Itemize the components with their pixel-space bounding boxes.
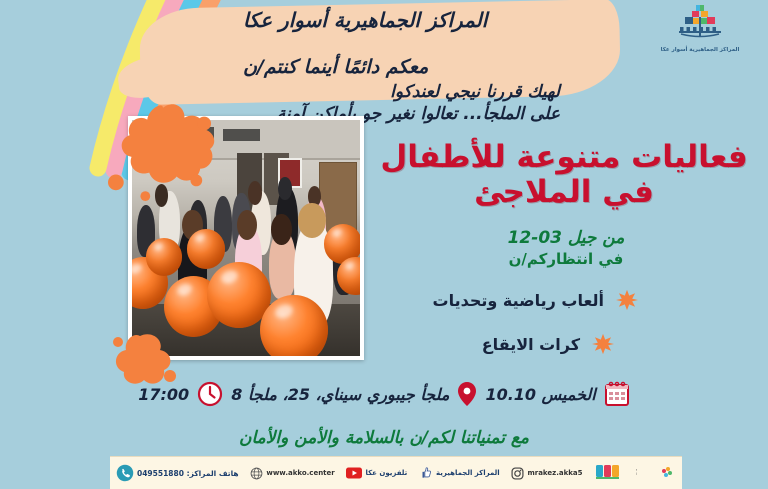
tree-logo-icon (669, 2, 731, 42)
phone-icon (116, 464, 134, 482)
facebook-thumb-icon (419, 466, 433, 480)
organization-name: المراكز الجماهيرية أسوار عكا (243, 8, 487, 32)
photo-block (128, 116, 364, 360)
svg-text:الرفاه: الرفاه (636, 472, 637, 476)
page-title: فعاليات متنوعة للأطفال في الملاجئ (374, 140, 754, 209)
event-date: الخميس 10.10 (485, 385, 595, 404)
footer-phone[interactable]: هاتف المراكز: 049551880 (116, 464, 239, 482)
organization-tagline: معكم دائمًا أينما كنتم/ن (243, 56, 428, 78)
instagram-icon (511, 467, 524, 480)
poster-canvas: المراكز الجماهيرية أسوار عكا معكم دائمًا… (0, 0, 768, 489)
instagram-handle: mrakez.akka5 (527, 469, 582, 477)
facebook-page-name: المراكز الجماهيرية (436, 469, 500, 477)
list-item: ألعاب رياضية وتحديات (378, 278, 638, 322)
calendar-icon (604, 381, 630, 407)
list-item: كرات الايقاع (378, 322, 614, 366)
activity-label: ألعاب رياضية وتحديات (433, 291, 605, 310)
footer-instagram[interactable]: mrakez.akka5 (511, 467, 582, 480)
partner-logo-ministry: وزارة الرفاه (636, 463, 676, 483)
logo-caption: المراكز الجماهيرية أسوار عكا (640, 47, 760, 53)
children-with-exercise-balls-photo (132, 120, 360, 356)
footer-facebook[interactable]: المراكز الجماهيرية (419, 466, 500, 480)
activities-list: ألعاب رياضية وتحديات كرات الايقاع (378, 278, 638, 366)
orange-star-bullet-icon (592, 333, 614, 355)
globe-icon (250, 467, 263, 480)
activity-label: كرات الايقاع (482, 335, 580, 354)
clock-icon (197, 381, 223, 407)
partner-logo-beit (594, 462, 624, 484)
wishes-message: مع تمنياتنا لكم/ن بالسلامة والأمن والأما… (0, 428, 768, 448)
orange-paint-splat-small-icon (110, 330, 180, 390)
youtube-icon (346, 467, 362, 479)
waiting-note: في انتظاركم/ن (456, 250, 676, 268)
footer-bar: وزارة الرفاه mrakez.akka5 (110, 456, 682, 489)
title-line-1: فعاليات متنوعة للأطفال (374, 140, 754, 175)
footer-youtube[interactable]: تلفزيون عكا (346, 467, 407, 479)
phone-number: هاتف المراكز: 049551880 (137, 469, 239, 478)
website-url: www.akko.center (266, 469, 334, 477)
age-range: من جيل 03-12 (456, 228, 676, 248)
slogan-line-1: لهيك قررنا نيجي لعندكوا (277, 82, 560, 104)
photo-frame (128, 116, 364, 360)
aswar-akka-logo: المراكز الجماهيرية أسوار عكا (640, 2, 760, 58)
footer-website[interactable]: www.akko.center (250, 467, 334, 480)
youtube-channel-name: تلفزيون عكا (365, 469, 407, 477)
orange-star-bullet-icon (616, 289, 638, 311)
title-line-2: في الملاجئ (374, 175, 754, 210)
map-pin-icon (457, 381, 477, 407)
event-location: ملجأ جيبوري سيناي، 25، ملجأ 8 (231, 385, 449, 404)
svg-text:وزارة: وزارة (636, 467, 637, 471)
